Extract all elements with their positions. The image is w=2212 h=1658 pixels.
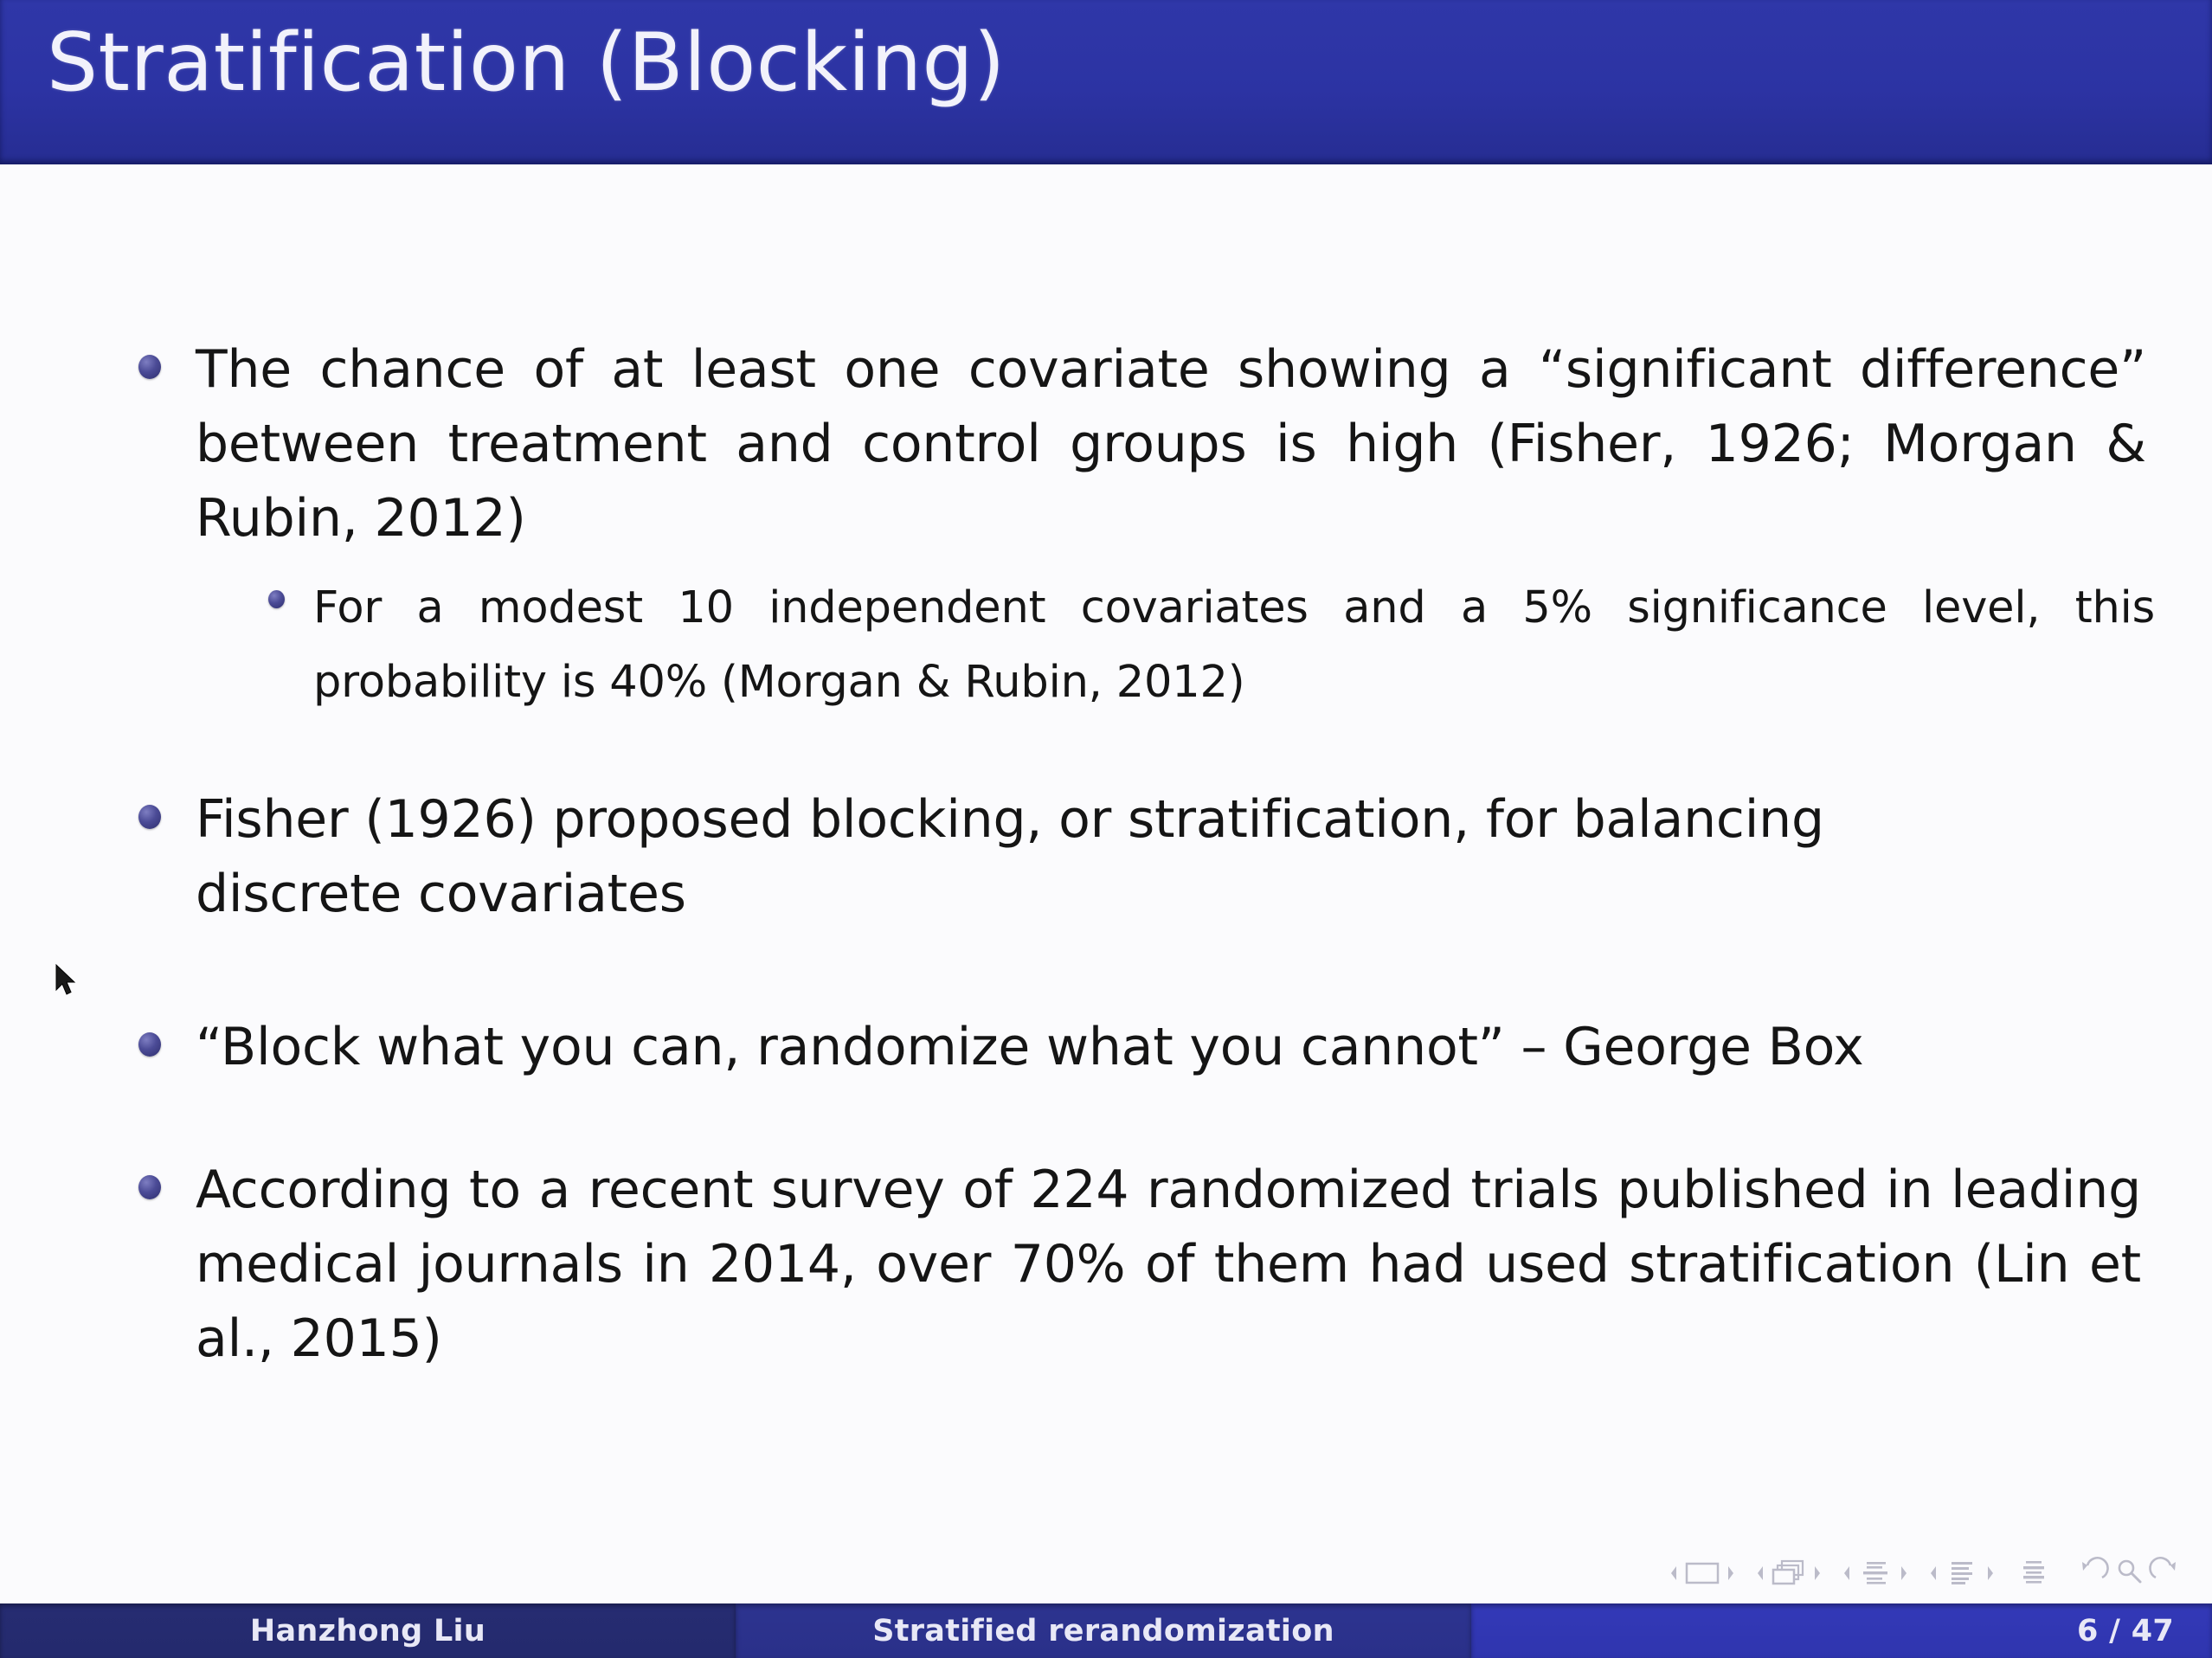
forward-icon[interactable]	[2148, 1554, 2183, 1592]
slide-title-bar: Stratification (Blocking)	[0, 0, 2212, 164]
nav-group-slide[interactable]	[1669, 1558, 1736, 1588]
bullet-dot-icon	[138, 1175, 161, 1199]
slide-title: Stratification (Blocking)	[47, 22, 1006, 103]
slide-body: The chance of at least one covariate sho…	[0, 166, 2212, 1532]
subsection-glyph-icon[interactable]	[1856, 1558, 1894, 1588]
beamer-navigation-bar[interactable]	[1669, 1547, 2183, 1599]
footer-author: Hanzhong Liu	[0, 1603, 736, 1658]
section-prev-arrow-icon[interactable]	[1928, 1565, 1939, 1582]
nav-group-history[interactable]	[2075, 1554, 2183, 1592]
subsection-next-arrow-icon[interactable]	[1899, 1565, 1909, 1582]
footer-page-number: 6 / 47	[1471, 1603, 2212, 1658]
search-icon[interactable]	[2112, 1554, 2146, 1592]
bullet-dot-icon	[138, 805, 161, 829]
bullet-dot-icon	[138, 355, 161, 379]
presentation-glyph-icon[interactable]	[2015, 1558, 2053, 1588]
bullet-text: The chance of at least one covariate sho…	[196, 332, 2146, 556]
bullet-text: For a modest 10 independent covariates a…	[313, 571, 2155, 720]
bullet-text: “Block what you can, randomize what you …	[196, 1010, 2091, 1084]
frame-glyph-icon[interactable]	[1770, 1558, 1808, 1588]
bullet-dot-icon	[268, 590, 285, 608]
slide-next-arrow-icon[interactable]	[1726, 1565, 1736, 1582]
subsection-prev-arrow-icon[interactable]	[1842, 1565, 1852, 1582]
nav-group-frame[interactable]	[1755, 1558, 1823, 1588]
slide-glyph-icon[interactable]	[1683, 1558, 1721, 1588]
bullet-dot-icon	[138, 1032, 161, 1057]
back-icon[interactable]	[2075, 1554, 2110, 1592]
footer-short-title: Stratified rerandomization	[736, 1603, 1471, 1658]
section-next-arrow-icon[interactable]	[1985, 1565, 1996, 1582]
nav-group-section[interactable]	[1928, 1558, 1996, 1588]
section-glyph-icon[interactable]	[1943, 1558, 1981, 1588]
presentation-slide: Stratification (Blocking) The chance of …	[0, 0, 2212, 1658]
frame-next-arrow-icon[interactable]	[1812, 1565, 1823, 1582]
bullet-text: According to a recent survey of 224 rand…	[196, 1153, 2141, 1376]
bullet-text: Fisher (1926) proposed blocking, or stra…	[196, 782, 2013, 931]
slide-prev-arrow-icon[interactable]	[1669, 1565, 1679, 1582]
slide-footer: Hanzhong Liu Stratified rerandomization …	[0, 1603, 2212, 1658]
mouse-pointer-icon	[54, 963, 78, 998]
frame-prev-arrow-icon[interactable]	[1755, 1565, 1765, 1582]
nav-group-subsection[interactable]	[1842, 1558, 1909, 1588]
